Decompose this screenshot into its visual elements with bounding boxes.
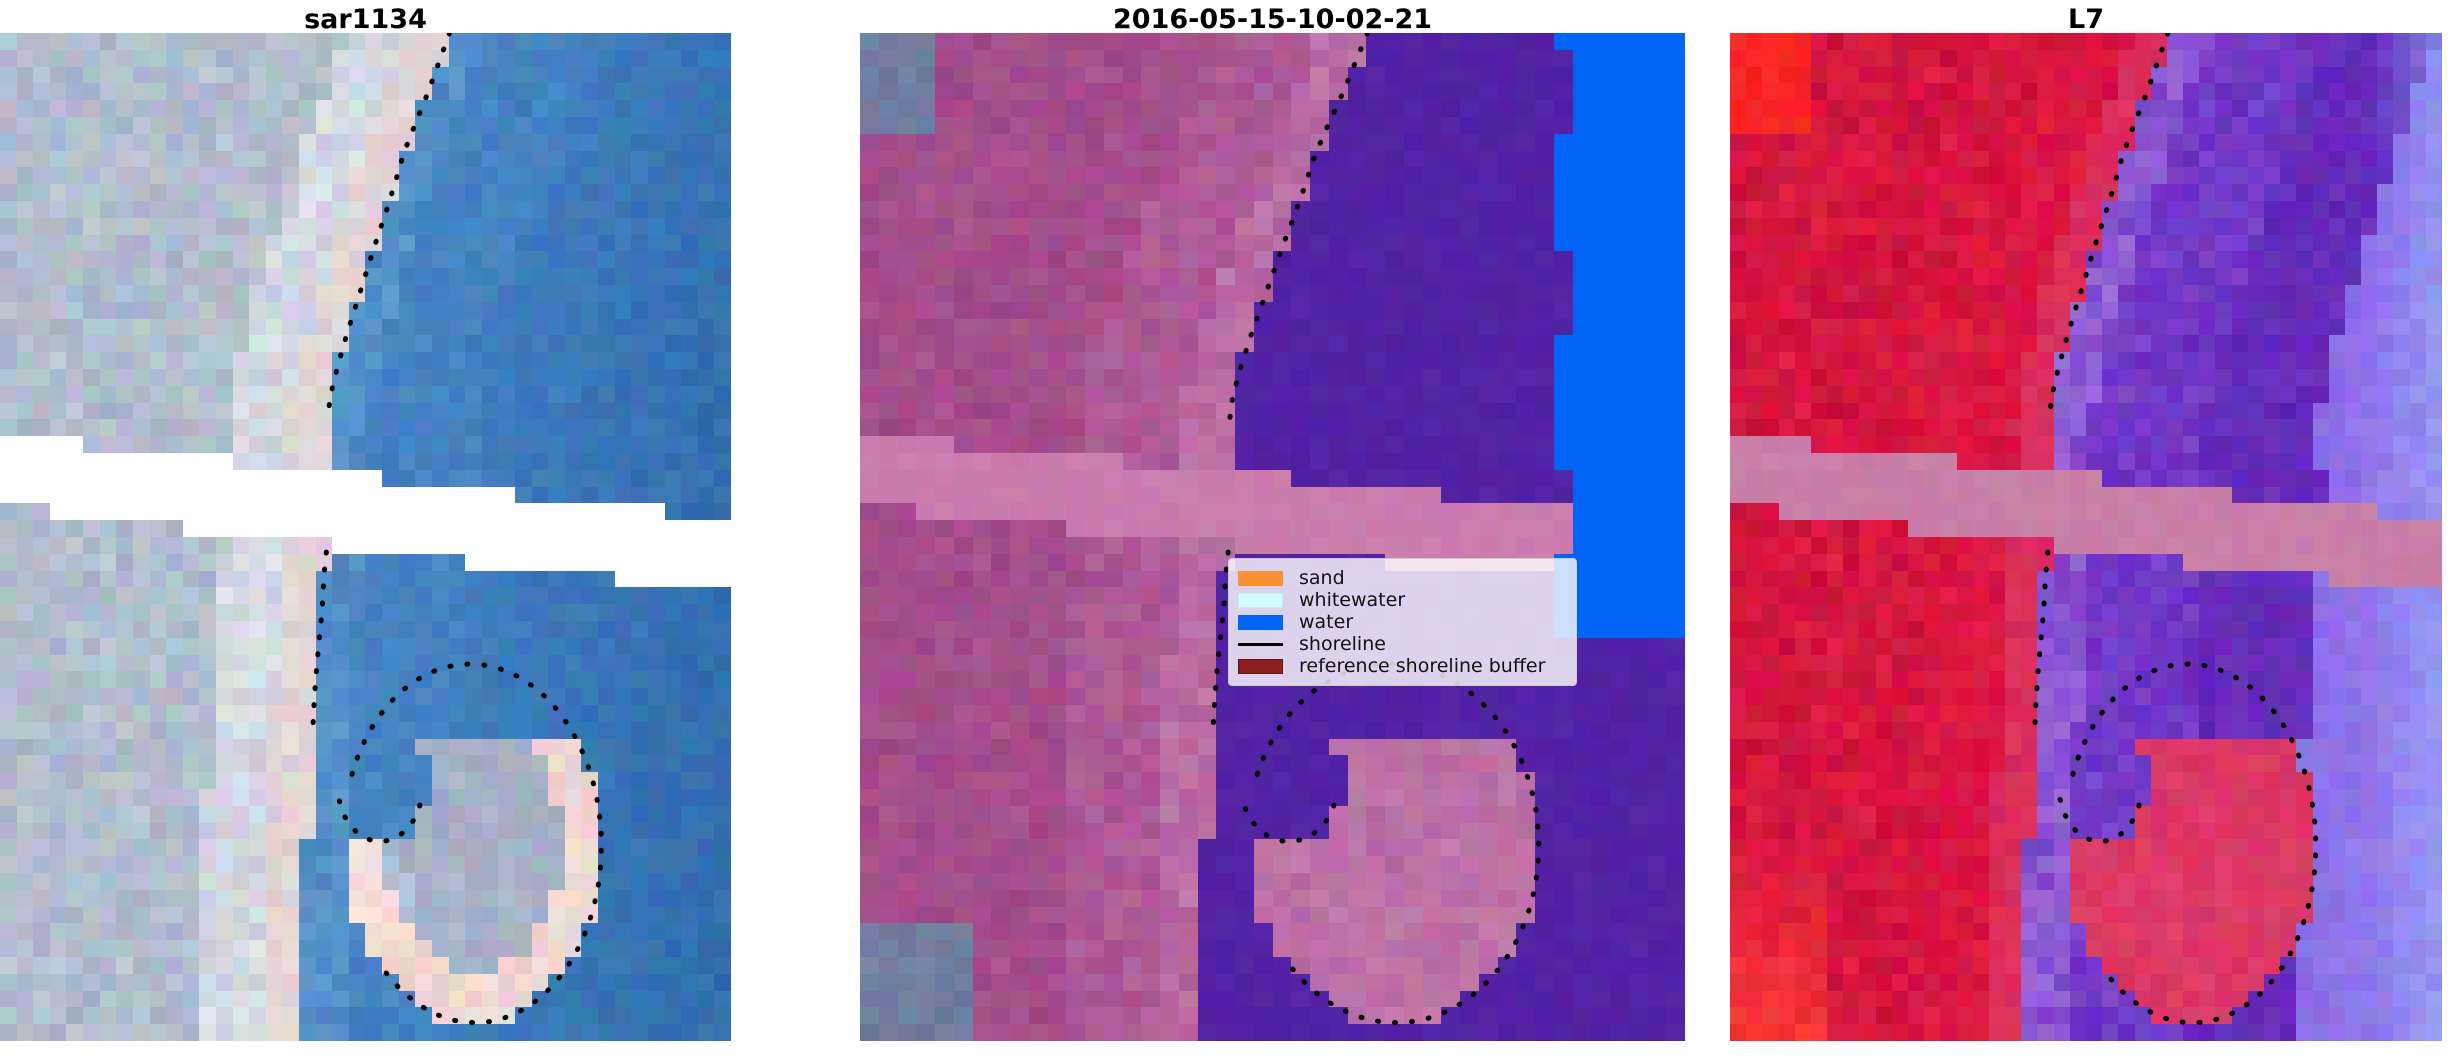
legend-label-water: water (1299, 612, 1353, 632)
legend-label-shoreline: shoreline (1299, 634, 1386, 654)
legend-swatch-water (1238, 615, 1283, 630)
legend-swatch-shoreline (1238, 643, 1283, 646)
panel-title-classified: 2016-05-15-10-02-21 (860, 4, 1685, 36)
legend-label-whitewater: whitewater (1299, 590, 1405, 610)
panel-classified[interactable]: 2016-05-15-10-02-21 (860, 0, 1685, 1059)
legend-item-reference-shoreline-buffer: reference shoreline buffer (1238, 656, 1566, 676)
legend: sand whitewater water shoreline referenc… (1228, 558, 1577, 686)
legend-swatch-reference-shoreline-buffer (1238, 659, 1283, 674)
legend-label-sand: sand (1299, 568, 1345, 588)
legend-item-water: water (1238, 612, 1566, 632)
panel-title-index: L7 (1730, 4, 2442, 36)
legend-item-shoreline: shoreline (1238, 634, 1566, 654)
shoreline-overlay (0, 33, 731, 1041)
legend-item-whitewater: whitewater (1238, 590, 1566, 610)
panel-title-sar1134: sar1134 (0, 4, 731, 36)
panel-axes-index[interactable] (1730, 33, 2442, 1041)
legend-item-sand: sand (1238, 568, 1566, 588)
legend-swatch-sand (1238, 571, 1283, 586)
shoreline-overlay (1730, 33, 2442, 1041)
panel-index[interactable]: L7 (1730, 0, 2442, 1059)
shoreline-overlay (860, 33, 1685, 1041)
panel-axes-classified[interactable] (860, 33, 1685, 1041)
figure-canvas: sar1134 2016-05-15-10-02-21 L7 sand whit… (0, 0, 2460, 1059)
panel-axes-sar1134[interactable] (0, 33, 731, 1041)
panel-sar1134[interactable]: sar1134 (0, 0, 731, 1059)
legend-label-reference-shoreline-buffer: reference shoreline buffer (1299, 656, 1545, 676)
legend-swatch-whitewater (1238, 593, 1283, 608)
